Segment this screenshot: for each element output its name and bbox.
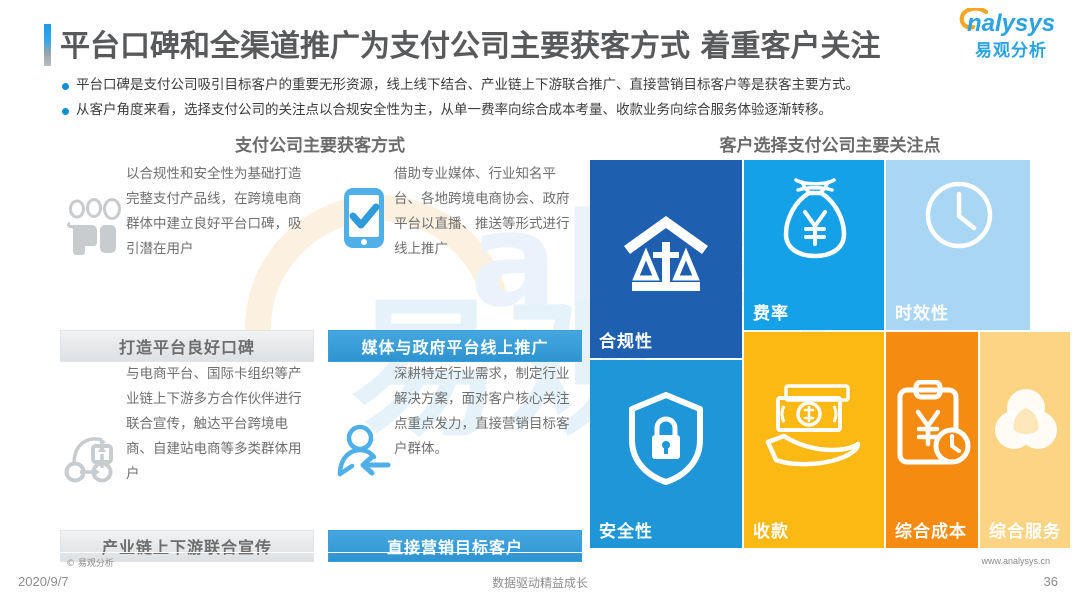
money-bag-yen-icon bbox=[780, 176, 850, 260]
focus-tile-timeliness[interactable]: 时效性 bbox=[886, 160, 1030, 330]
left-section-heading: 支付公司主要获客方式 bbox=[60, 131, 580, 156]
slide-footer: © 易观分析 www.analysys.cn 2020/9/7 数据驱动精益成长… bbox=[0, 552, 1080, 608]
page-title: 平台口碑和全渠道推广为支付公司主要获客方式 着重客户关注 bbox=[60, 21, 880, 65]
focus-tile-security[interactable]: 安全性 bbox=[590, 360, 742, 548]
venn-circles-icon bbox=[994, 384, 1058, 454]
method-panel[interactable]: 深耕特定行业需求，制定行业解决方案，面对客户核心关注点重点发力，直接营销目标客户… bbox=[328, 362, 580, 548]
method-panel[interactable]: 以合规性和安全性为基础打造完整支付产品线，在跨境电商群体中建立良好平台口碑，吸引… bbox=[60, 162, 312, 348]
focus-tile-compliance[interactable]: 合规性 bbox=[590, 160, 742, 358]
slide-root: alysys 易观 平台口碑和全渠道推广为支付公司主要获客方式 着重客户关注 n… bbox=[0, 0, 1080, 608]
slide-header: 平台口碑和全渠道推广为支付公司主要获客方式 着重客户关注 nalysys 易观分… bbox=[0, 0, 1080, 72]
tile-label: 费率 bbox=[753, 299, 789, 324]
title-accent-bar bbox=[44, 24, 51, 66]
tile-label: 合规性 bbox=[599, 327, 653, 352]
acquisition-methods-grid: 以合规性和安全性为基础打造完整支付产品线，在跨境电商群体中建立良好平台口碑，吸引… bbox=[60, 162, 580, 548]
hand-cash-icon bbox=[762, 380, 866, 470]
right-section-heading: 客户选择支付公司主要关注点 bbox=[590, 131, 1070, 156]
method-description: 以合规性和安全性为基础打造完整支付产品线，在跨境电商群体中建立良好平台口碑，吸引… bbox=[126, 162, 312, 262]
logo-wordmark: nalysys bbox=[967, 10, 1055, 38]
tile-label: 综合服务 bbox=[989, 517, 1061, 542]
clipboard-yen-icon bbox=[894, 380, 972, 472]
focus-tile-total-cost[interactable]: 综合成本 bbox=[886, 332, 978, 548]
method-description: 与电商平台、国际卡组织等产业链上下游多方合作伙伴进行联合宣传，触达平台跨境电商、… bbox=[126, 362, 312, 487]
logo-cn-text: 易观分析 bbox=[975, 36, 1047, 61]
footer-copyright: © 易观分析 bbox=[66, 556, 114, 569]
tile-label: 综合成本 bbox=[895, 517, 967, 542]
method-bar-label[interactable]: 打造平台良好口碑 bbox=[60, 330, 314, 362]
focus-tile-total-service[interactable]: 综合服务 bbox=[980, 332, 1070, 548]
bullet-item: 从客户角度来看，选择支付公司的关注点以合规安全性为主，从单一费率向综合成本考量、… bbox=[60, 101, 1060, 120]
method-bar-label[interactable]: 媒体与政府平台线上推广 bbox=[328, 330, 582, 362]
scales-building-icon bbox=[620, 210, 712, 302]
tile-label: 时效性 bbox=[895, 299, 949, 324]
footer-url[interactable]: www.analysys.cn bbox=[981, 556, 1050, 566]
focus-tile-collection[interactable]: 收款 bbox=[744, 332, 884, 548]
focus-tile-rate[interactable]: 费率 bbox=[744, 160, 884, 330]
method-panel[interactable]: 与电商平台、国际卡组织等产业链上下游多方合作伙伴进行联合宣传，触达平台跨境电商、… bbox=[60, 362, 312, 548]
method-panel[interactable]: 借助专业媒体、行业知名平台、各地跨境电商协会、政府平台以直播、推送等形式进行线上… bbox=[328, 162, 580, 348]
footer-slogan: 数据驱动精益成长 bbox=[0, 574, 1080, 591]
users-group-icon bbox=[64, 194, 128, 258]
tile-label: 安全性 bbox=[599, 517, 653, 542]
mobile-check-icon bbox=[332, 186, 396, 250]
person-arrow-icon bbox=[332, 422, 396, 486]
shield-lock-icon bbox=[626, 390, 706, 486]
clock-icon bbox=[924, 180, 994, 250]
tile-label: 收款 bbox=[753, 517, 789, 542]
network-nodes-icon bbox=[64, 424, 128, 488]
bullet-list: 平台口碑是支付公司吸引目标客户的重要无形资源，线上线下结合、产业链上下游联合推广… bbox=[60, 76, 1060, 126]
footer-page-number: 36 bbox=[1044, 574, 1058, 589]
method-description: 借助专业媒体、行业知名平台、各地跨境电商协会、政府平台以直播、推送等形式进行线上… bbox=[394, 162, 580, 262]
analysys-logo: nalysys 易观分析 bbox=[947, 6, 1072, 62]
bullet-item: 平台口碑是支付公司吸引目标客户的重要无形资源，线上线下结合、产业链上下游联合推广… bbox=[60, 76, 1060, 95]
customer-focus-grid: 合规性 费率 时效性 bbox=[590, 160, 1070, 548]
footer-divider bbox=[0, 552, 1080, 553]
method-description: 深耕特定行业需求，制定行业解决方案，面对客户核心关注点重点发力，直接营销目标客户… bbox=[394, 362, 580, 462]
